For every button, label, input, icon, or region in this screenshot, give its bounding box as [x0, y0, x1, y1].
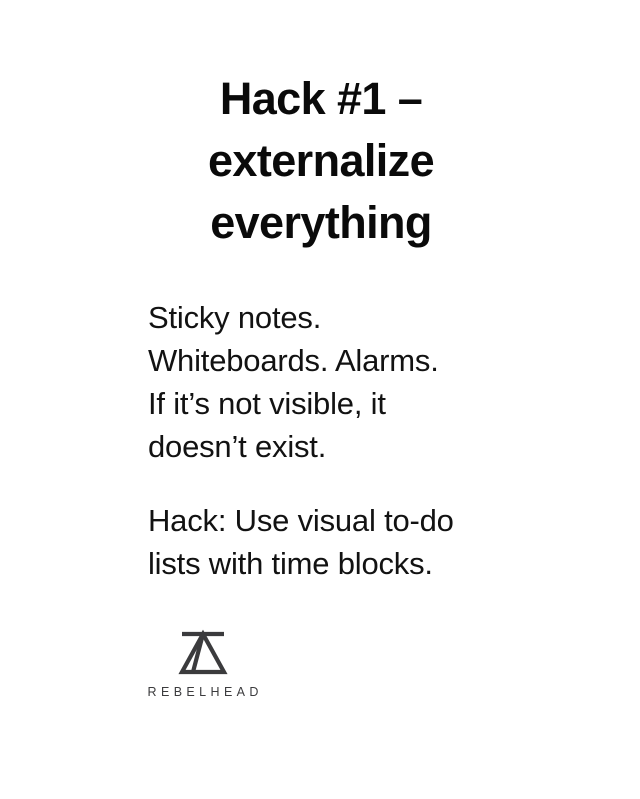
content-column: Hack #1 – externalize everything Sticky … [148, 0, 494, 585]
brand-wordmark: REBELHEAD [143, 685, 263, 699]
body-paragraph-externalize-methods: Sticky notes. Whiteboards. Alarms. If it… [148, 296, 494, 468]
page-title: Hack #1 – externalize everything [148, 0, 494, 254]
brand-logo-lockup: REBELHEAD [148, 628, 258, 699]
body-copy: Sticky notes. Whiteboards. Alarms. If it… [148, 296, 494, 585]
body-paragraph-hack-tip: Hack: Use visual to-do lists with time b… [148, 499, 494, 585]
rebelhead-triangle-mark-icon [176, 628, 230, 676]
quote-card: Hack #1 – externalize everything Sticky … [0, 0, 640, 799]
